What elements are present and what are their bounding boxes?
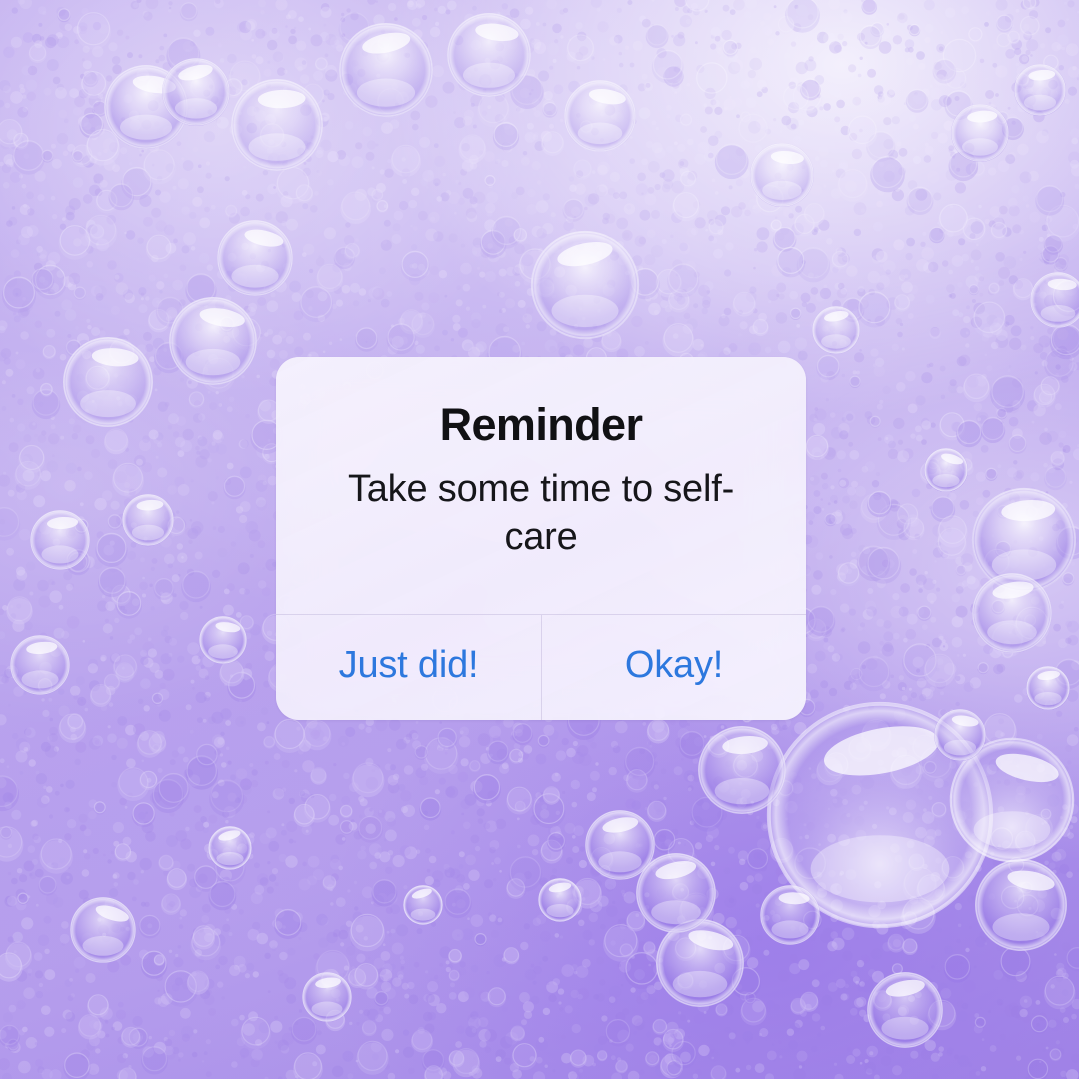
just-did-button[interactable]: Just did! (276, 615, 541, 720)
screenshot-canvas: Reminder Take some time to self-care Jus… (0, 0, 1079, 1079)
alert-actions: Just did! Okay! (276, 614, 806, 720)
alert-message: Take some time to self-care (341, 466, 741, 562)
okay-button[interactable]: Okay! (541, 615, 806, 720)
alert-content: Reminder Take some time to self-care (276, 357, 806, 614)
reminder-alert-dialog: Reminder Take some time to self-care Jus… (276, 357, 806, 720)
alert-title: Reminder (440, 401, 643, 448)
